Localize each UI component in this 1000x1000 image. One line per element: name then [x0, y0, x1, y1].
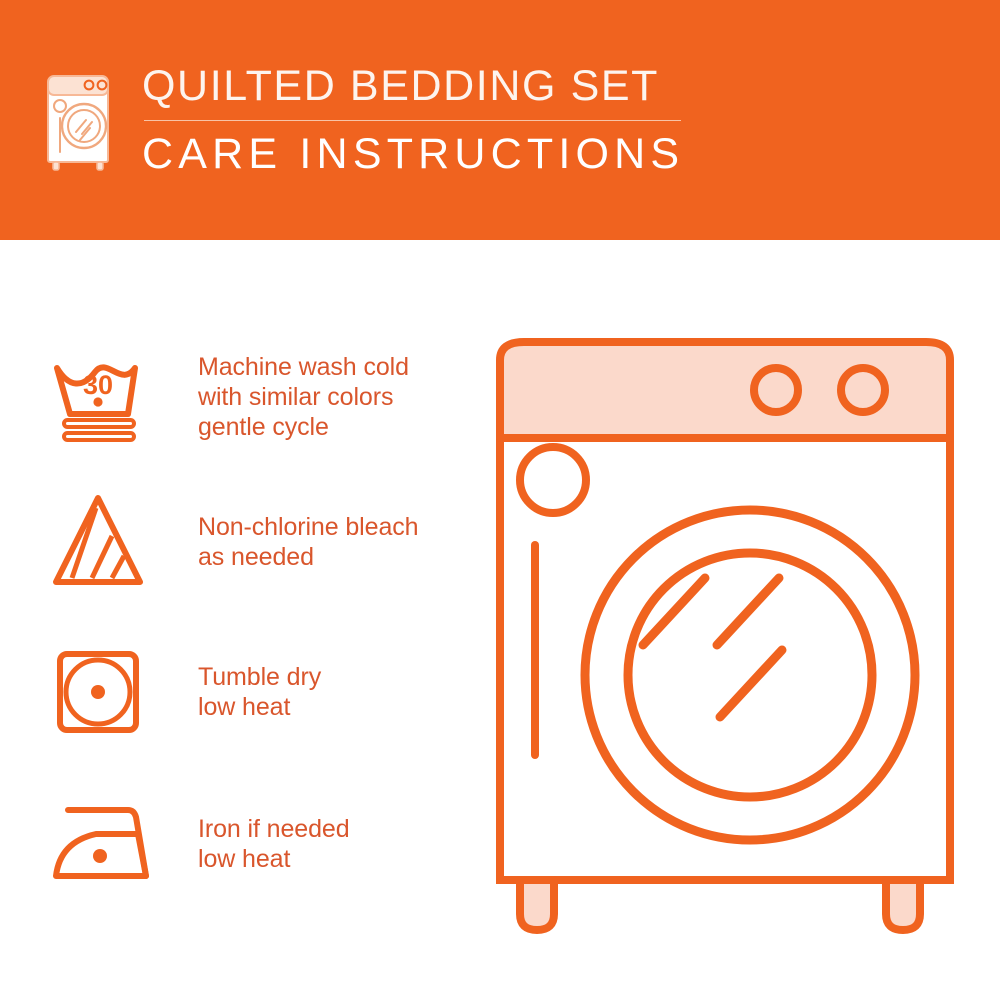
care-line: Iron if needed: [198, 814, 350, 844]
iron-low-heat-icon: [50, 790, 162, 894]
care-row-iron: Iron if needed low heat: [50, 790, 480, 894]
care-line: low heat: [198, 844, 350, 874]
title-divider: [144, 120, 681, 121]
front-load-washing-machine-illustration: [480, 300, 1000, 960]
foot-left: [520, 880, 554, 930]
header-banner: QUILTED BEDDING SET CARE INSTRUCTIONS: [0, 0, 1000, 240]
care-text-tumble-dry: Tumble dry low heat: [198, 640, 321, 722]
care-line: Non-chlorine bleach: [198, 512, 418, 542]
care-line: gentle cycle: [198, 412, 409, 442]
care-line: Machine wash cold: [198, 352, 409, 382]
page-title: QUILTED BEDDING SET: [142, 62, 684, 110]
care-row-bleach: Non-chlorine bleach as needed: [50, 490, 480, 594]
care-row-tumble-dry: Tumble dry low heat: [50, 640, 480, 744]
care-instruction-list: 30 Machine wash cold with similar colors…: [0, 240, 480, 1000]
tumble-dry-low-heat-icon: [50, 640, 162, 744]
care-row-machine-wash: 30 Machine wash cold with similar colors…: [50, 348, 480, 452]
care-text-machine-wash: Machine wash cold with similar colors ge…: [198, 348, 409, 442]
care-text-iron: Iron if needed low heat: [198, 790, 350, 874]
care-line: with similar colors: [198, 382, 409, 412]
wash-temperature-label: 30: [83, 370, 113, 400]
foot-right: [886, 880, 920, 930]
care-line: as needed: [198, 542, 418, 572]
care-line: low heat: [198, 692, 321, 722]
care-instructions-infographic: QUILTED BEDDING SET CARE INSTRUCTIONS 30: [0, 0, 1000, 1000]
washing-machine-icon: [44, 68, 116, 172]
wash-tub-30-icon: 30: [50, 348, 162, 452]
non-chlorine-bleach-triangle-icon: [50, 490, 162, 594]
care-text-bleach: Non-chlorine bleach as needed: [198, 490, 418, 572]
header-titles: QUILTED BEDDING SET CARE INSTRUCTIONS: [142, 62, 684, 179]
page-subtitle: CARE INSTRUCTIONS: [142, 129, 684, 179]
care-line: Tumble dry: [198, 662, 321, 692]
header-content: QUILTED BEDDING SET CARE INSTRUCTIONS: [44, 62, 684, 179]
